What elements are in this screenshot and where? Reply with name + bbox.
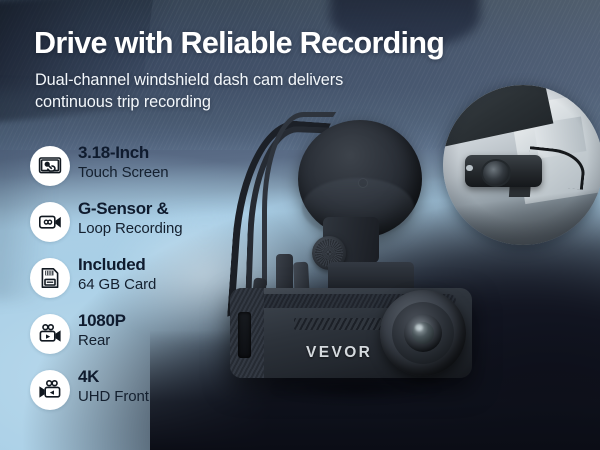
- front-lens-highlight: [415, 324, 423, 331]
- feature-subtitle: UHD Front: [78, 388, 149, 406]
- brand-logo: VEVOR: [306, 344, 372, 362]
- inset-vignette: [443, 85, 600, 245]
- page-subtitle: Dual-channel windshield dash cam deliver…: [35, 70, 455, 113]
- front-camera-icon: [30, 370, 70, 410]
- subtitle-line-2: continuous trip recording: [35, 92, 455, 114]
- feature-item-touch-screen: 3.18-Inch Touch Screen: [30, 144, 245, 200]
- feature-title: G-Sensor &: [78, 199, 183, 219]
- feature-subtitle: Touch Screen: [78, 164, 169, 182]
- dash-cam-card-slot: [238, 312, 251, 358]
- dash-cam-product-image: VEVOR: [228, 112, 478, 422]
- feature-subtitle: 64 GB Card: [78, 276, 156, 294]
- memory-card-icon: [30, 258, 70, 298]
- rear-camera-icon: [30, 314, 70, 354]
- feature-title: 1080P: [78, 311, 126, 331]
- feature-subtitle: Rear: [78, 332, 126, 350]
- page-title: Drive with Reliable Recording: [34, 27, 504, 59]
- feature-item-front-camera: 4K UHD Front: [30, 368, 245, 424]
- feature-title: 3.18-Inch: [78, 143, 169, 163]
- feature-text: 1080P Rear: [78, 311, 126, 350]
- feature-item-loop-recording: G-Sensor & Loop Recording: [30, 200, 245, 256]
- feature-text: 3.18-Inch Touch Screen: [78, 143, 169, 182]
- rear-camera-inset: [443, 85, 600, 245]
- subtitle-line-1: Dual-channel windshield dash cam deliver…: [35, 70, 455, 92]
- feature-subtitle: Loop Recording: [78, 220, 183, 238]
- feature-list: 3.18-Inch Touch Screen G-Sensor & Loop R…: [30, 144, 245, 424]
- loop-recording-icon: [30, 202, 70, 242]
- feature-item-rear-camera: 1080P Rear: [30, 312, 245, 368]
- feature-text: 4K UHD Front: [78, 367, 149, 406]
- feature-text: Included 64 GB Card: [78, 255, 156, 294]
- feature-title: Included: [78, 255, 156, 275]
- feature-text: G-Sensor & Loop Recording: [78, 199, 183, 238]
- promo-banner: Drive with Reliable Recording Dual-chann…: [0, 0, 600, 450]
- feature-item-memory-card: Included 64 GB Card: [30, 256, 245, 312]
- feature-title: 4K: [78, 367, 149, 387]
- touch-screen-icon: [30, 146, 70, 186]
